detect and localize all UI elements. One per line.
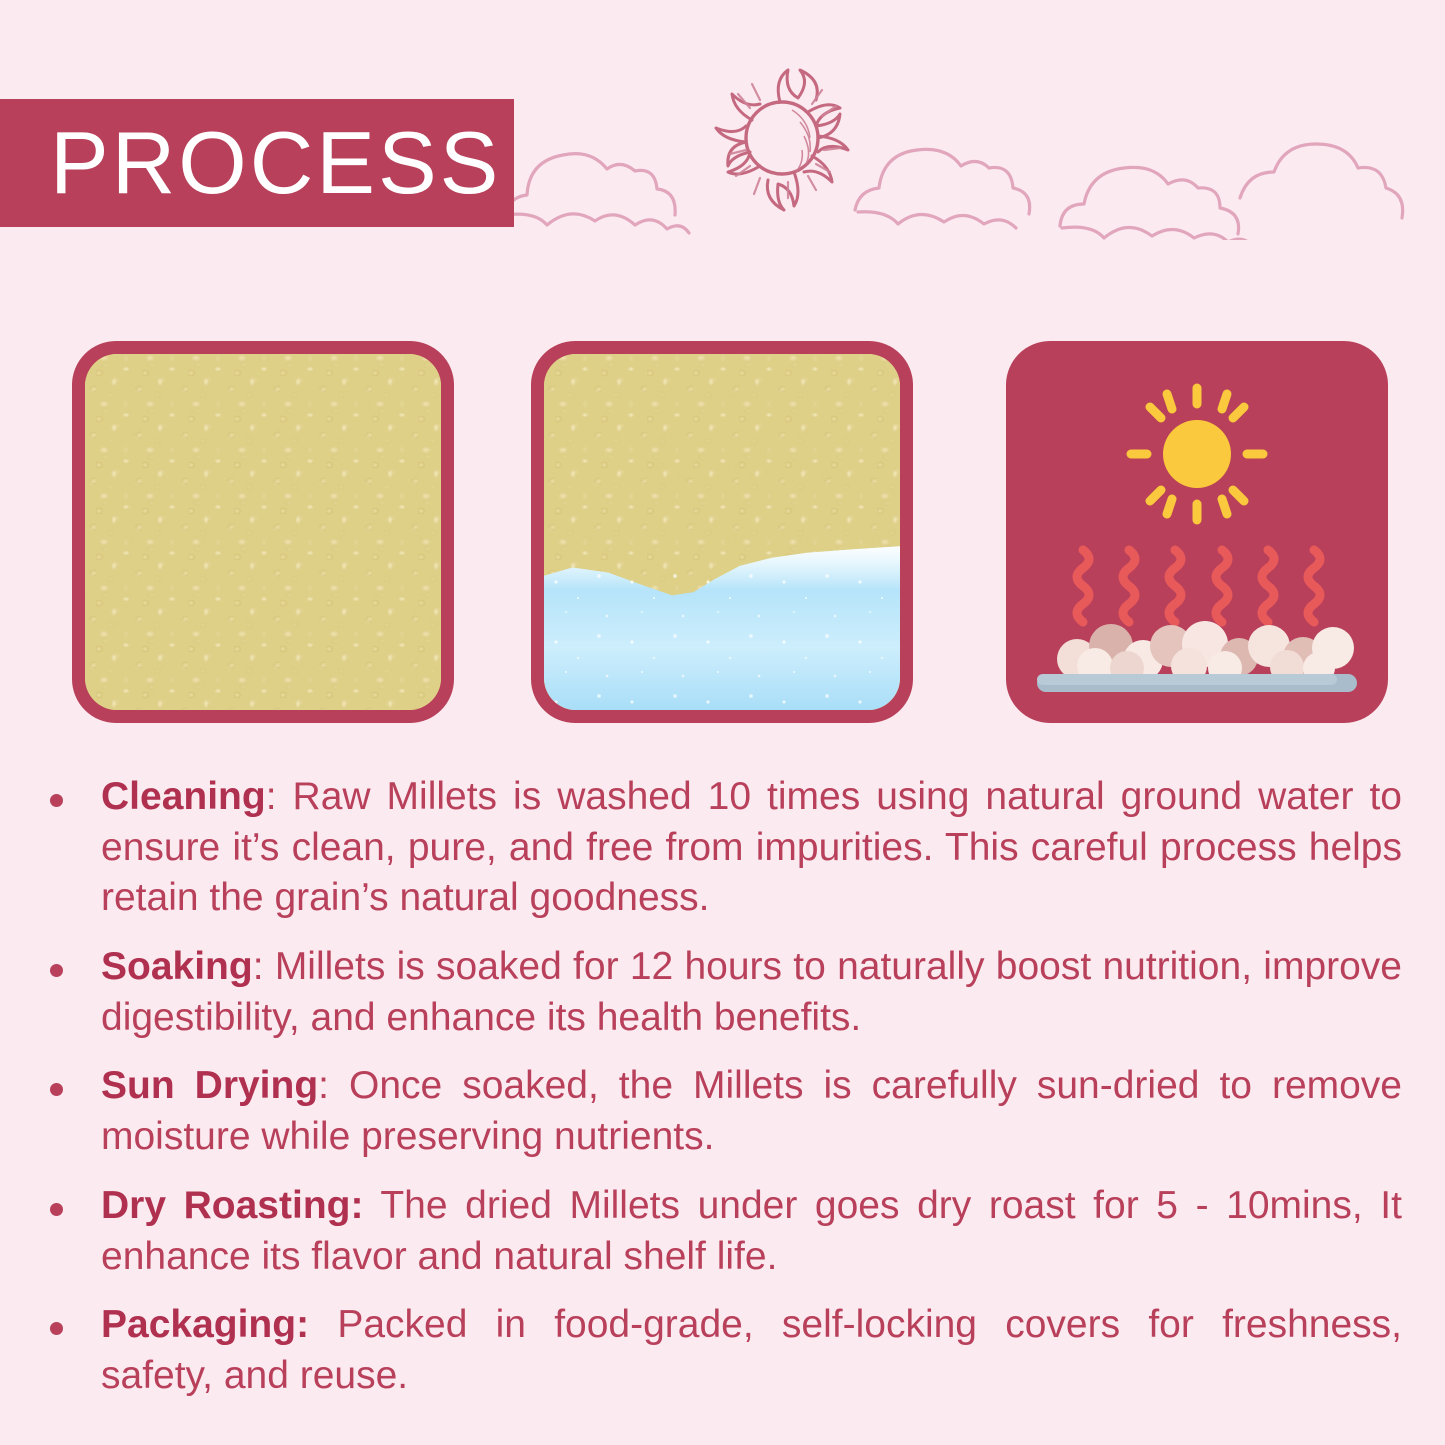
list-item: Packaging: Packed in food-grade, self-lo… <box>50 1300 1402 1401</box>
sun-icon <box>1131 388 1263 520</box>
bullet-dot-icon <box>50 964 63 977</box>
page-title: PROCESS <box>0 119 501 207</box>
step-label: Dry Roasting: <box>101 1184 363 1227</box>
cloud-outline-icon <box>1062 227 1254 240</box>
list-item: Dry Roasting: The dried Millets under go… <box>50 1181 1402 1282</box>
step-text: Cleaning: Raw Millets is washed 10 times… <box>101 772 1402 924</box>
step-label: Packaging: <box>101 1303 309 1346</box>
page-title-banner: PROCESS <box>0 99 514 227</box>
bullet-dot-icon <box>50 1322 63 1335</box>
process-steps-list: Cleaning: Raw Millets is washed 10 times… <box>50 772 1402 1420</box>
step-body: Millets is soaked for 12 hours to natura… <box>101 945 1402 1039</box>
card-soaking-millet-in-water <box>531 341 913 723</box>
cloud-outline-icon <box>1060 167 1239 234</box>
hand-drawn-sun-icon <box>716 70 848 210</box>
step-separator: : <box>318 1064 349 1107</box>
cloud-outline-icon <box>505 214 689 233</box>
process-image-cards <box>0 341 1445 723</box>
step-separator <box>309 1303 337 1346</box>
cloud-outline-icon <box>505 154 675 215</box>
millet-grains-in-water-photo-icon <box>544 354 900 710</box>
step-label: Soaking <box>101 945 253 988</box>
list-item: Sun Drying: Once soaked, the Millets is … <box>50 1061 1402 1162</box>
bullet-dot-icon <box>50 794 63 807</box>
card-raw-millet-grains <box>72 341 454 723</box>
step-body: Raw Millets is washed 10 times using nat… <box>101 775 1402 919</box>
cloud-outline-icon <box>855 149 1030 214</box>
millet-grains-photo-icon <box>85 354 441 710</box>
step-text: Packaging: Packed in food-grade, self-lo… <box>101 1300 1402 1401</box>
process-infographic: PROCESS <box>0 0 1445 1445</box>
bullet-dot-icon <box>50 1083 63 1096</box>
step-separator: : <box>266 775 293 818</box>
list-item: Cleaning: Raw Millets is washed 10 times… <box>50 772 1402 924</box>
water-bubbles <box>544 568 900 710</box>
step-separator <box>363 1184 380 1227</box>
step-text: Sun Drying: Once soaked, the Millets is … <box>101 1061 1402 1162</box>
step-label: Cleaning <box>101 775 266 818</box>
step-separator: : <box>253 945 275 988</box>
step-text: Dry Roasting: The dried Millets under go… <box>101 1181 1402 1282</box>
step-text: Soaking: Millets is soaked for 12 hours … <box>101 942 1402 1043</box>
list-item: Soaking: Millets is soaked for 12 hours … <box>50 942 1402 1043</box>
sun-drying-icon <box>1019 354 1375 710</box>
step-label: Sun Drying <box>101 1064 318 1107</box>
card-sun-drying-illustration <box>1006 341 1388 723</box>
cloud-outline-icon <box>858 212 1016 228</box>
cloud-outline-icon <box>1240 144 1403 218</box>
bullet-dot-icon <box>50 1203 63 1216</box>
tray-icon <box>1037 674 1357 692</box>
